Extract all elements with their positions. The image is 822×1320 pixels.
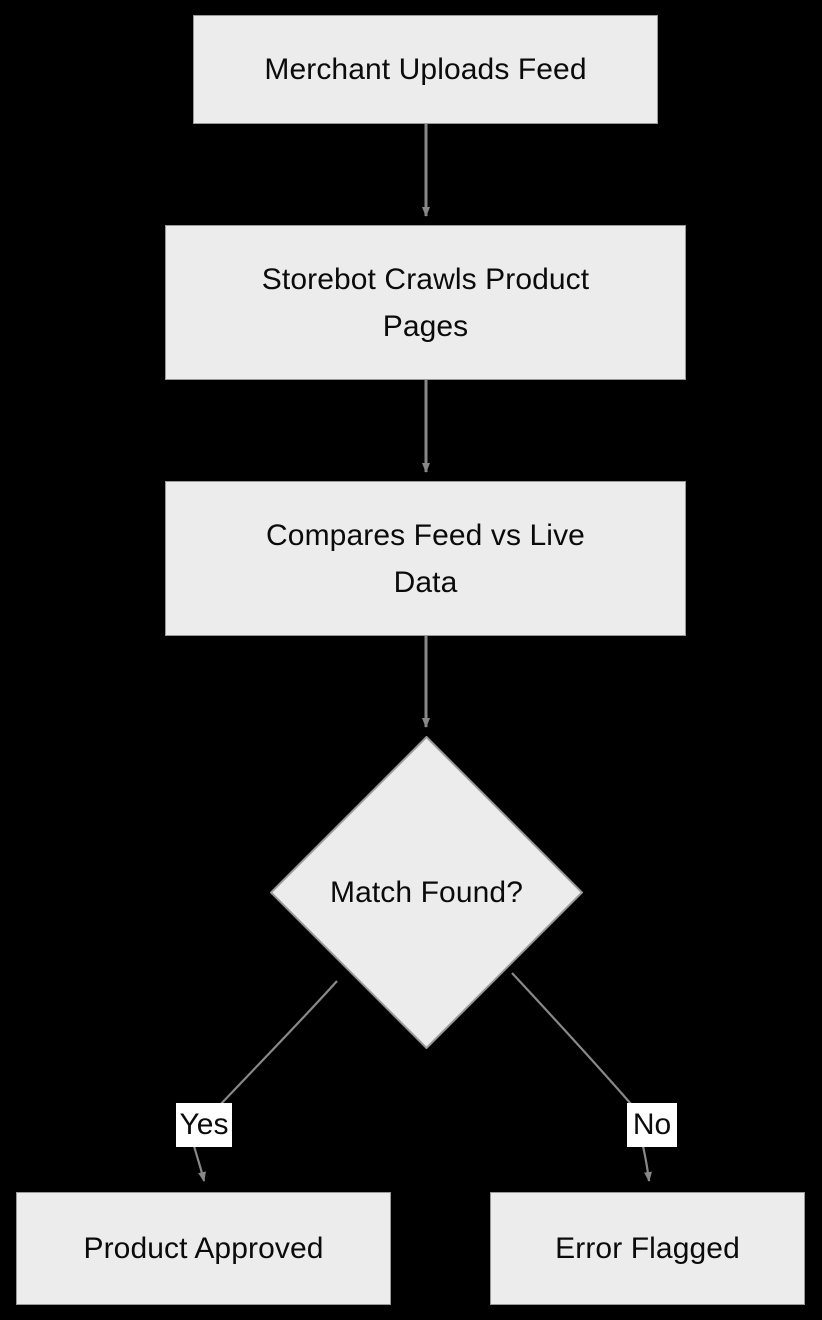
node-label-merchant-uploads-feed: Merchant Uploads Feed bbox=[264, 46, 586, 93]
node-label-storebot-crawls-product-pages: Storebot Crawls Product Pages bbox=[262, 256, 589, 350]
node-compares-feed-vs-live-data[interactable]: Compares Feed vs Live Data bbox=[165, 481, 686, 636]
edge-label-yes: Yes bbox=[176, 1103, 232, 1147]
node-label-error-flagged: Error Flagged bbox=[555, 1225, 740, 1272]
edges-layer bbox=[0, 0, 822, 1320]
node-storebot-crawls-product-pages[interactable]: Storebot Crawls Product Pages bbox=[165, 225, 686, 380]
node-label-match-found: Match Found? bbox=[330, 869, 523, 916]
flowchart-canvas: Merchant Uploads Feed Storebot Crawls Pr… bbox=[0, 0, 822, 1320]
edge-decision-yes-tail bbox=[194, 1146, 204, 1181]
node-match-found-decision[interactable]: Match Found? bbox=[270, 736, 583, 1049]
node-merchant-uploads-feed[interactable]: Merchant Uploads Feed bbox=[193, 15, 658, 124]
node-label-product-approved: Product Approved bbox=[83, 1225, 323, 1272]
node-label-compares-feed-vs-live-data: Compares Feed vs Live Data bbox=[266, 512, 585, 606]
node-product-approved[interactable]: Product Approved bbox=[16, 1192, 391, 1305]
node-error-flagged[interactable]: Error Flagged bbox=[490, 1192, 805, 1305]
edge-label-no: No bbox=[627, 1103, 677, 1147]
edge-decision-no-tail bbox=[643, 1146, 649, 1181]
